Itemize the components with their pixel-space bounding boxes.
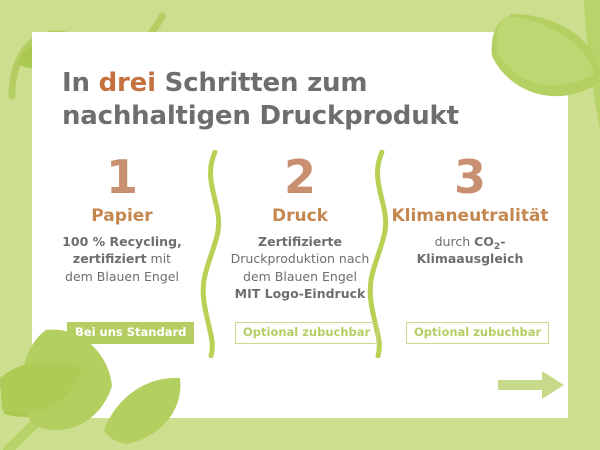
headline-line-1: In drei Schritten zum [62, 68, 367, 98]
step-desc-line: Klimaausgleich [417, 251, 524, 266]
page-title: In drei Schritten zum nachhaltigen Druck… [62, 67, 532, 133]
step-title-3: Klimaneutralität [384, 206, 556, 226]
vine-stem-icon [584, 0, 600, 130]
step-number-1: 1 [36, 154, 208, 200]
step-description-1: 100 % Recycling, zertifiziert mit dem Bl… [36, 233, 208, 285]
step-title-2: Druck [214, 206, 386, 226]
infographic-canvas: In drei Schritten zum nachhaltigen Druck… [0, 0, 600, 450]
content-panel: In drei Schritten zum nachhaltigen Druck… [32, 32, 568, 418]
headline-post: Schritten zum [156, 68, 367, 98]
step-desc-line: dem Blauen Engel [243, 269, 357, 284]
step-desc-co2: CO2- [474, 234, 505, 249]
step-desc-line: 100 % Recycling, [62, 234, 182, 249]
step-desc-line: Zertifizierte [258, 234, 342, 249]
step-desc-line: zertifiziert [73, 251, 147, 266]
step-title-1: Papier [36, 206, 208, 226]
status-badge-step-3: Optional zubuchbar [406, 322, 549, 344]
headline-accent: drei [99, 68, 156, 98]
step-desc-line: MIT Logo-Eindruck [235, 286, 366, 301]
step-column-1: 1 Papier 100 % Recycling, zertifiziert m… [36, 154, 208, 285]
step-desc-line: mit [147, 251, 172, 266]
headline-pre: In [62, 68, 99, 98]
step-desc-co2-text: CO [474, 234, 494, 249]
step-number-3: 3 [384, 154, 556, 200]
step-desc-co2-subscript: 2 [494, 242, 500, 252]
step-description-3: durch CO2- Klimaausgleich [384, 233, 556, 268]
step-column-2: 2 Druck Zertifizierte Druckproduktion na… [214, 154, 386, 302]
headline-line-2: nachhaltigen Druckprodukt [62, 101, 459, 131]
badges-container: Bei uns Standard Optional zubuchbar Opti… [32, 322, 568, 348]
steps-container: 1 Papier 100 % Recycling, zertifiziert m… [32, 154, 568, 384]
step-description-2: Zertifizierte Druckproduktion nach dem B… [214, 233, 386, 302]
step-desc-line: Druckproduktion nach [231, 251, 370, 266]
step-desc-line: durch [435, 234, 475, 249]
step-desc-co2-tail: - [500, 234, 505, 249]
step-column-3: 3 Klimaneutralität durch CO2- Klimaausgl… [384, 154, 556, 268]
step-number-2: 2 [214, 154, 386, 200]
status-badge-step-2: Optional zubuchbar [235, 322, 378, 344]
step-desc-line: dem Blauen Engel [65, 269, 179, 284]
arrow-right-icon [498, 370, 564, 400]
status-badge-step-1: Bei uns Standard [67, 322, 194, 344]
